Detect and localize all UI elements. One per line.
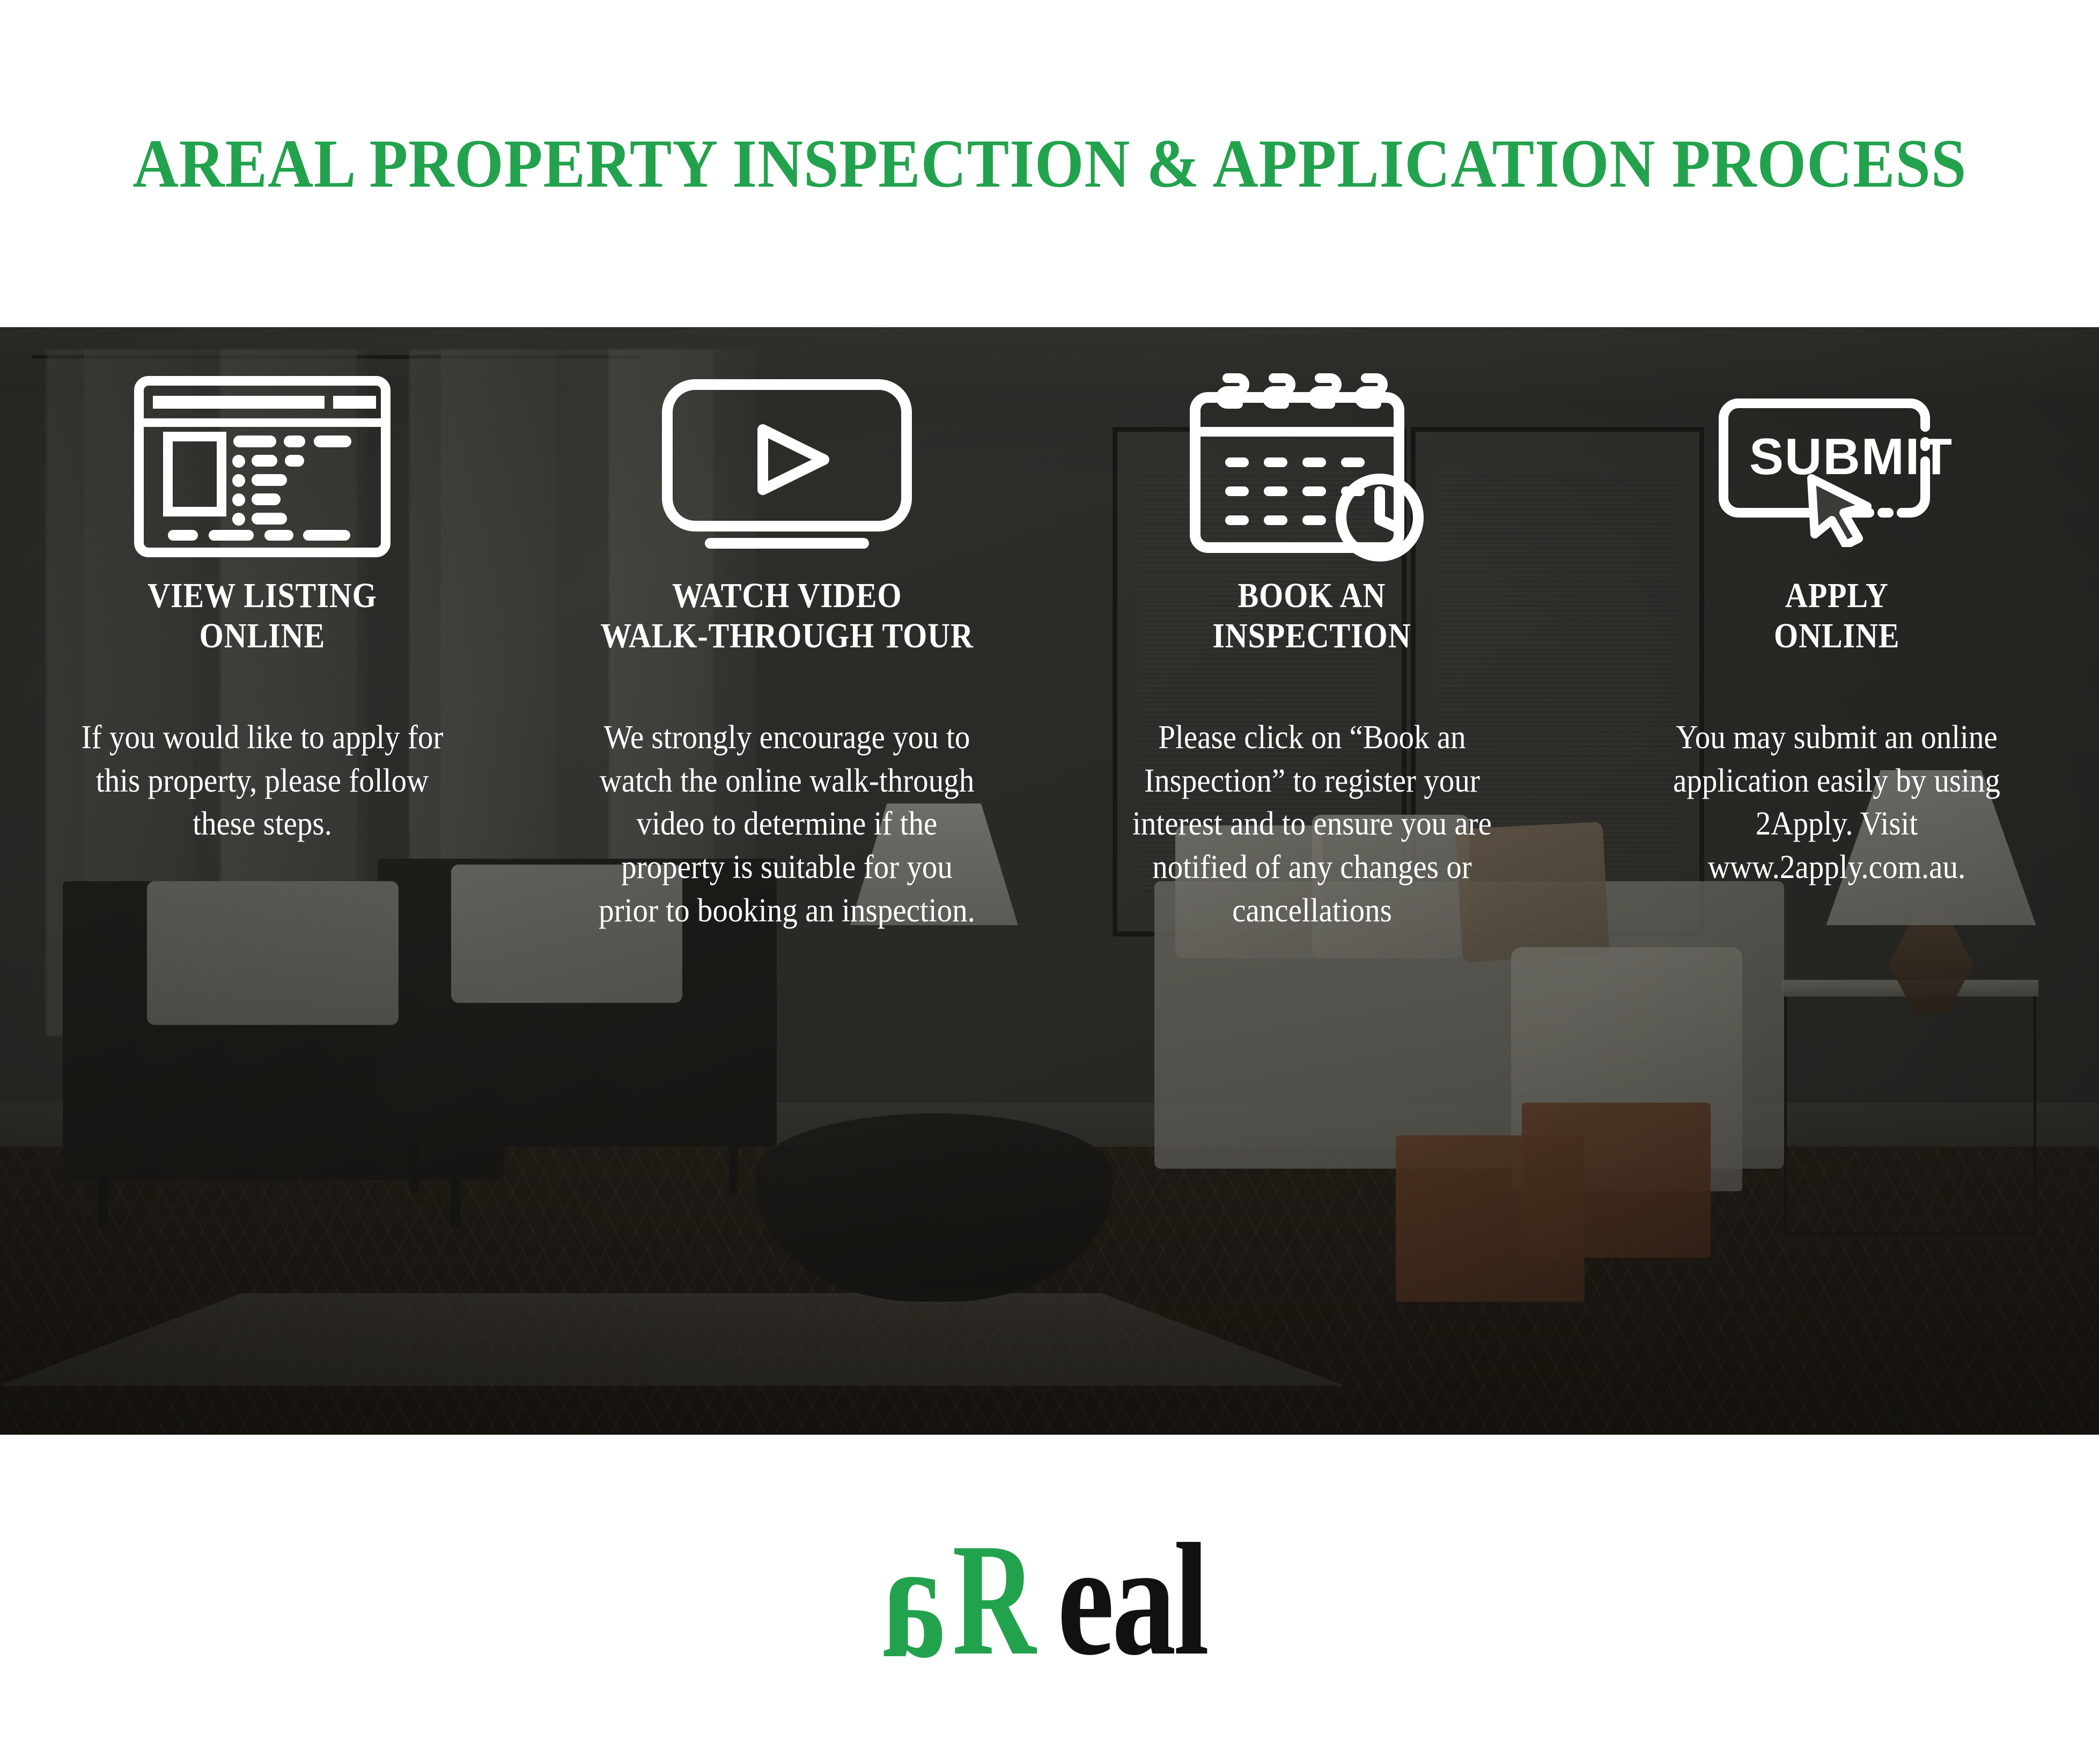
step-title-line2: ONLINE [148, 616, 377, 656]
step-body-text: If you would like to apply for this prop… [65, 716, 460, 846]
areal-logo: a R eal [874, 1519, 1225, 1680]
submit-icon-label: SUBMIT [1749, 428, 1953, 485]
step-title-line2: ONLINE [1774, 616, 1899, 656]
step-column-apply-online: SUBMIT APPLY ONLINE You may submit an on… [1574, 327, 2099, 1435]
video-play-monitor-icon [661, 365, 913, 569]
step-title: BOOK AN INSPECTION [1212, 576, 1411, 656]
step-title-line1: VIEW LISTING [148, 576, 377, 616]
logo-letters-eal: eal [1057, 1519, 1206, 1680]
title-bar: AREAL PROPERTY INSPECTION & APPLICATION … [0, 0, 2099, 327]
step-title-line1: APPLY [1774, 576, 1899, 616]
steps-row: VIEW LISTING ONLINE If you would like to… [0, 327, 2099, 1435]
submit-button-cursor-icon: SUBMIT [1711, 365, 1963, 569]
step-title: WATCH VIDEO WALK-THROUGH TOUR [601, 576, 974, 656]
browser-listing-icon [134, 365, 391, 569]
step-column-view-listing: VIEW LISTING ONLINE If you would like to… [0, 327, 525, 1435]
step-title-line2: WALK-THROUGH TOUR [601, 616, 974, 656]
step-body-text: You may submit an online application eas… [1639, 716, 2034, 889]
step-title: APPLY ONLINE [1774, 576, 1899, 656]
step-body-text: We strongly encourage you to watch the o… [590, 716, 984, 932]
step-column-book-inspection: BOOK AN INSPECTION Please click on “Book… [1050, 327, 1574, 1435]
footer: a R eal [0, 1435, 2099, 1764]
step-title: VIEW LISTING ONLINE [148, 576, 377, 656]
step-title-line1: BOOK AN [1212, 576, 1411, 616]
hero-photo-band: VIEW LISTING ONLINE If you would like to… [0, 327, 2099, 1435]
step-body-text: Please click on “Book an Inspection” to … [1115, 716, 1509, 932]
page-title: AREAL PROPERTY INSPECTION & APPLICATION … [132, 124, 1967, 203]
logo-letter-R: R [952, 1519, 1036, 1680]
infographic-page: AREAL PROPERTY INSPECTION & APPLICATION … [0, 0, 2099, 1764]
step-column-watch-video: WATCH VIDEO WALK-THROUGH TOUR We strongl… [525, 327, 1049, 1435]
cursor-arrow-icon [1811, 478, 1867, 545]
logo-letter-a: a [882, 1515, 946, 1684]
step-title-line2: INSPECTION [1212, 616, 1411, 656]
step-title-line1: WATCH VIDEO [601, 576, 974, 616]
calendar-clock-icon [1178, 365, 1446, 569]
